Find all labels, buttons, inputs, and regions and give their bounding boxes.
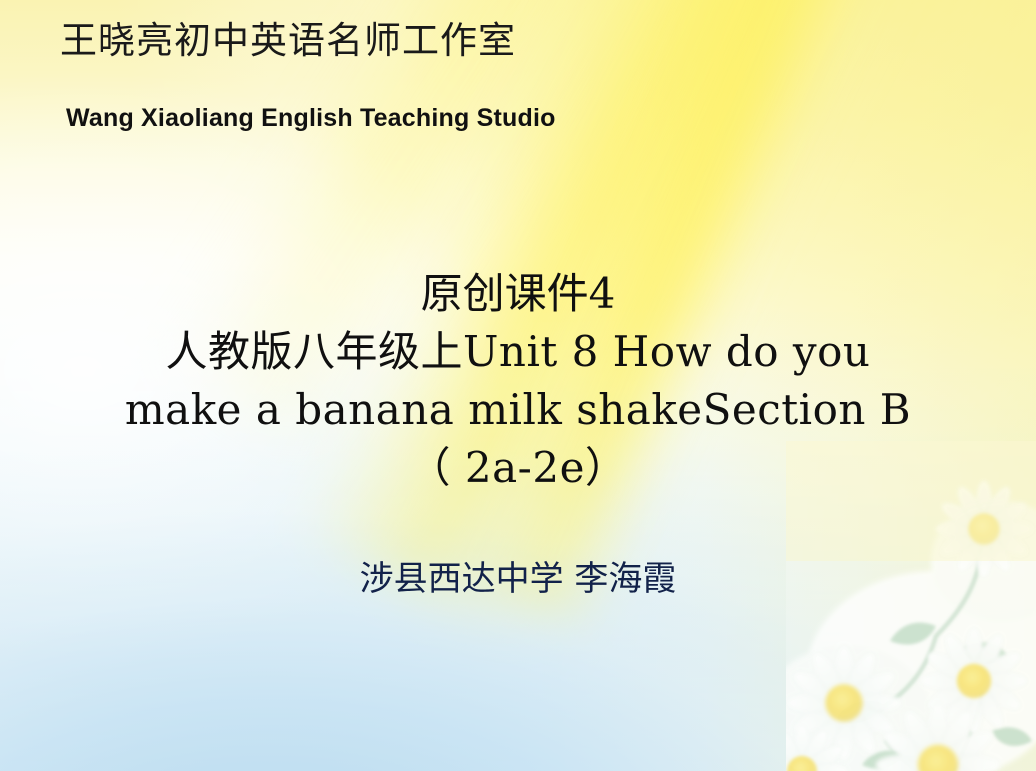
title-line-4: （ 2a-2e） [0, 439, 1036, 497]
studio-name-chinese: 王晓亮初中英语名师工作室 [60, 22, 516, 59]
presentation-slide: 王晓亮初中英语名师工作室 Wang Xiaoliang English Teac… [0, 0, 1036, 771]
title-line-1: 原创课件4 [0, 265, 1036, 323]
title-line-2: 人教版八年级上Unit 8 How do you [0, 323, 1036, 381]
studio-name-english: Wang Xiaoliang English Teaching Studio [66, 106, 556, 131]
slide-title-block: 原创课件4 人教版八年级上Unit 8 How do you make a ba… [0, 265, 1036, 497]
author-line: 涉县西达中学 李海霞 [0, 558, 1036, 601]
title-line-3: make a banana milk shakeSection B [0, 381, 1036, 439]
